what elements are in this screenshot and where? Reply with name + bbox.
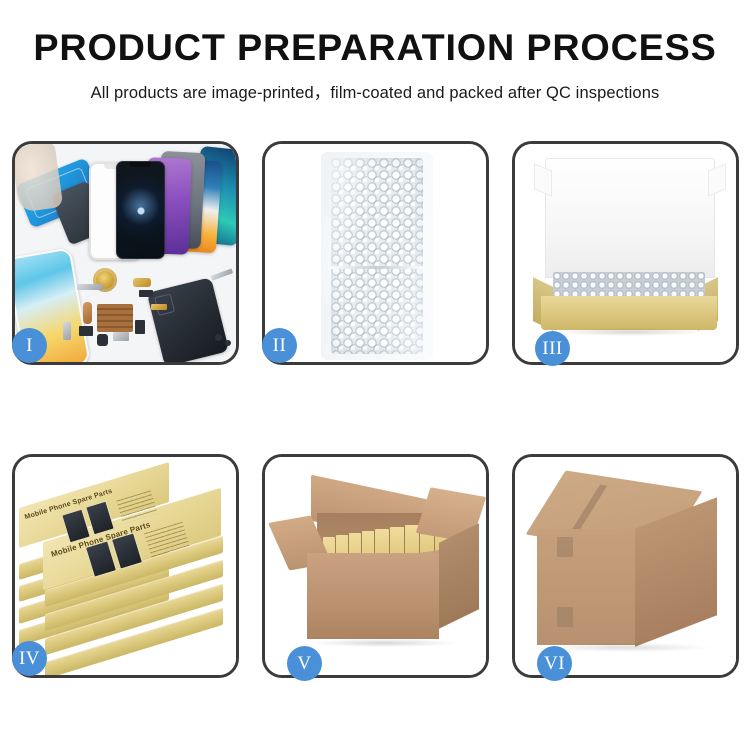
bubble-wrap-seam (331, 266, 423, 269)
flex-cable-part (77, 284, 103, 290)
process-step-6: VI (512, 454, 739, 678)
vibrator-part (97, 334, 108, 346)
process-step-grid: I II (12, 141, 739, 681)
step-badge-5: V (287, 646, 322, 681)
process-step-4: Mobile Phone Spare Parts Mobile Phone Sp… (12, 454, 239, 678)
gold-contact-part (151, 304, 167, 310)
inner-box-shadow (555, 328, 705, 336)
phone-back-cover (147, 277, 229, 362)
sealed-carton-front (537, 529, 635, 645)
screw-part (225, 340, 231, 346)
process-step-1: I (12, 141, 239, 365)
step-badge-6: VI (537, 646, 572, 681)
box-stack-scene: Mobile Phone Spare Parts Mobile Phone Sp… (15, 457, 236, 675)
copper-strip-part (83, 302, 92, 324)
step-2-image (265, 144, 486, 362)
screw-part (215, 334, 222, 341)
step-3-image (515, 144, 736, 362)
carton-shadow (309, 639, 459, 647)
camera-module-part (79, 326, 93, 336)
chip-array-part (97, 304, 133, 332)
process-step-5: V (262, 454, 489, 678)
step-1-image (15, 144, 236, 362)
sim-tray-part (135, 320, 145, 334)
step-badge-3: III (535, 331, 570, 366)
header: PRODUCT PREPARATION PROCESS All products… (0, 28, 750, 103)
hand-holding-part (15, 144, 63, 213)
sealed-carton-scene (515, 457, 736, 675)
sealed-carton-shadow (543, 643, 711, 652)
inner-box-front-panel (541, 296, 717, 330)
tool-pry-part (211, 268, 233, 280)
gold-connector-part (133, 278, 151, 287)
process-step-3: III (512, 141, 739, 365)
inner-box-scene (515, 144, 736, 362)
step-badge-4: IV (12, 641, 47, 676)
metal-bracket-part (113, 332, 129, 341)
process-step-2: II (262, 141, 489, 365)
phone-parts-scene (15, 144, 236, 362)
step-5-image (265, 457, 486, 675)
infographic-page: PRODUCT PREPARATION PROCESS All products… (0, 0, 750, 750)
antenna-part (63, 322, 71, 340)
bubble-wrap-gloss (331, 158, 423, 354)
carton-tape-upper (557, 537, 573, 557)
small-ic-part (139, 290, 153, 297)
carton-tape-lower (557, 607, 573, 627)
phone-black-display (116, 161, 165, 259)
step-4-image: Mobile Phone Spare Parts Mobile Phone Sp… (15, 457, 236, 675)
page-title: PRODUCT PREPARATION PROCESS (0, 28, 750, 68)
carton-filling-scene (265, 457, 486, 675)
step-6-image (515, 457, 736, 675)
bubble-wrap-scene (265, 144, 486, 362)
carton-right-side (439, 523, 479, 629)
carton-front-panel (307, 553, 439, 639)
page-subtitle: All products are image-printed，film-coat… (0, 79, 750, 103)
step-badge-2: II (262, 328, 297, 363)
inner-box-white-lid (545, 158, 715, 278)
step-badge-1: I (12, 328, 47, 363)
